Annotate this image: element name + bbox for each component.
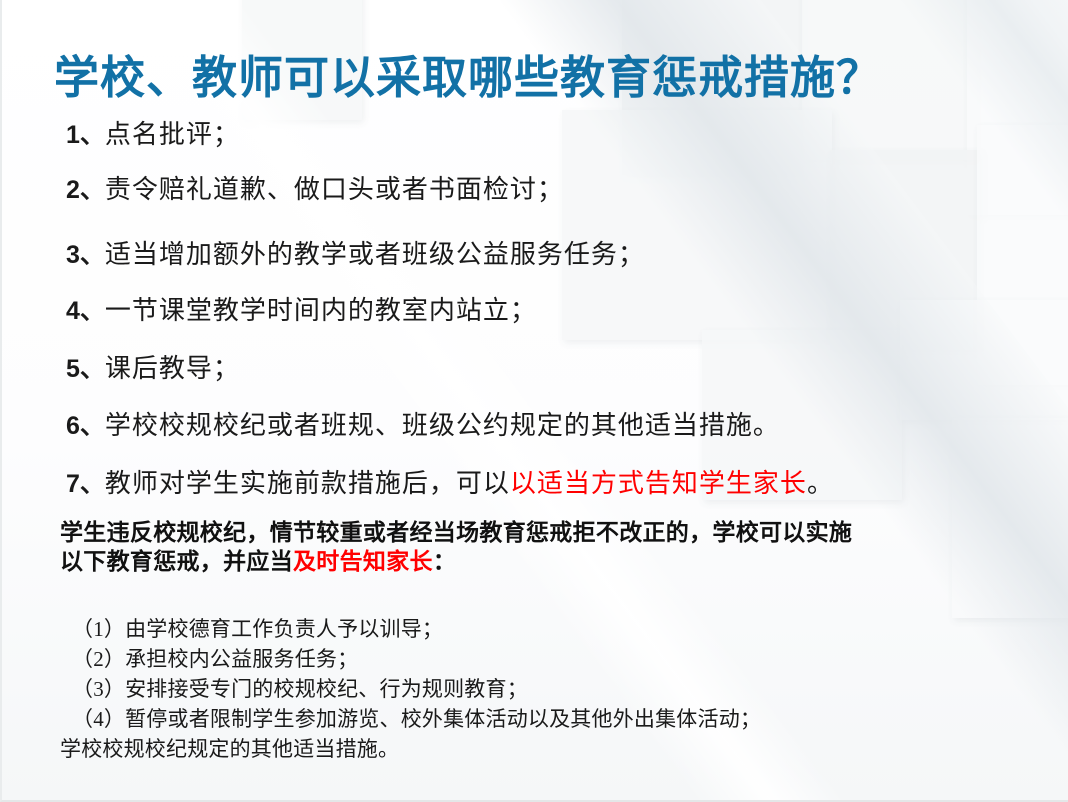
emphasis-line-2-highlight: 及时告知家长 [293, 549, 433, 574]
list-item-label: 适当增加额外的教学或者班级公益服务任务； [105, 240, 645, 269]
list-item-label: 学校校规校纪或者班规、班级公约规定的其他适当措施。 [105, 411, 780, 440]
list-item-number: 6、 [66, 412, 105, 440]
list-item: 3、适当增加额外的教学或者班级公益服务任务； [66, 238, 645, 272]
list-item-number: 4、 [66, 297, 105, 325]
list-item: 1、点名批评； [66, 118, 240, 152]
sub-measures-list: （1）由学校德育工作负责人予以训导； （2）承担校内公益服务任务； （3）安排接… [60, 614, 1020, 764]
sub-list-item: （4）暂停或者限制学生参加游览、校外集体活动以及其他外出集体活动； [60, 704, 1020, 734]
sub-list-item: 学校校规校纪规定的其他适当措施。 [60, 734, 1020, 764]
list-item-number: 7、 [66, 470, 105, 498]
list-item-suffix: 。 [807, 469, 834, 498]
list-item: 2、责令赔礼道歉、做口头或者书面检讨； [66, 173, 564, 207]
list-item-label: 教师对学生实施前款措施后，可以 [105, 469, 510, 498]
list-item-label: 责令赔礼道歉、做口头或者书面检讨； [105, 175, 564, 204]
emphasis-paragraph: 学生违反校规校纪，情节较重或者经当场教育惩戒拒不改正的，学校可以实施 以下教育惩… [60, 518, 990, 576]
list-item-label: 一节课堂教学时间内的教室内站立； [105, 296, 537, 325]
list-item-highlight: 以适当方式告知学生家长 [510, 469, 807, 498]
emphasis-line-2: 以下教育惩戒，并应当及时告知家长： [60, 547, 990, 576]
sub-list-item: （3）安排接受专门的校规校纪、行为规则教育； [60, 674, 1020, 704]
list-item: 7、教师对学生实施前款措施后，可以以适当方式告知学生家长。 [66, 467, 834, 501]
sub-list-item: （1）由学校德育工作负责人予以训导； [60, 614, 1020, 644]
list-item-number: 5、 [66, 355, 105, 383]
list-item: 4、一节课堂教学时间内的教室内站立； [66, 294, 537, 328]
list-item-label: 课后教导； [105, 354, 240, 383]
list-item-number: 3、 [66, 241, 105, 269]
slide-canvas: 学校、教师可以采取哪些教育惩戒措施？ 1、点名批评； 2、责令赔礼道歉、做口头或… [0, 0, 1068, 802]
emphasis-line-1: 学生违反校规校纪，情节较重或者经当场教育惩戒拒不改正的，学校可以实施 [60, 518, 990, 547]
list-item-label: 点名批评； [105, 120, 240, 149]
emphasis-line-2-before: 以下教育惩戒，并应当 [60, 549, 293, 574]
list-item-number: 2、 [66, 176, 105, 204]
page-title: 学校、教师可以采取哪些教育惩戒措施？ [54, 51, 882, 105]
list-item-number: 1、 [66, 121, 105, 149]
list-item: 5、课后教导； [66, 352, 240, 386]
list-item: 6、学校校规校纪或者班规、班级公约规定的其他适当措施。 [66, 409, 780, 443]
emphasis-line-2-after: ： [433, 549, 456, 574]
sub-list-item: （2）承担校内公益服务任务； [60, 644, 1020, 674]
